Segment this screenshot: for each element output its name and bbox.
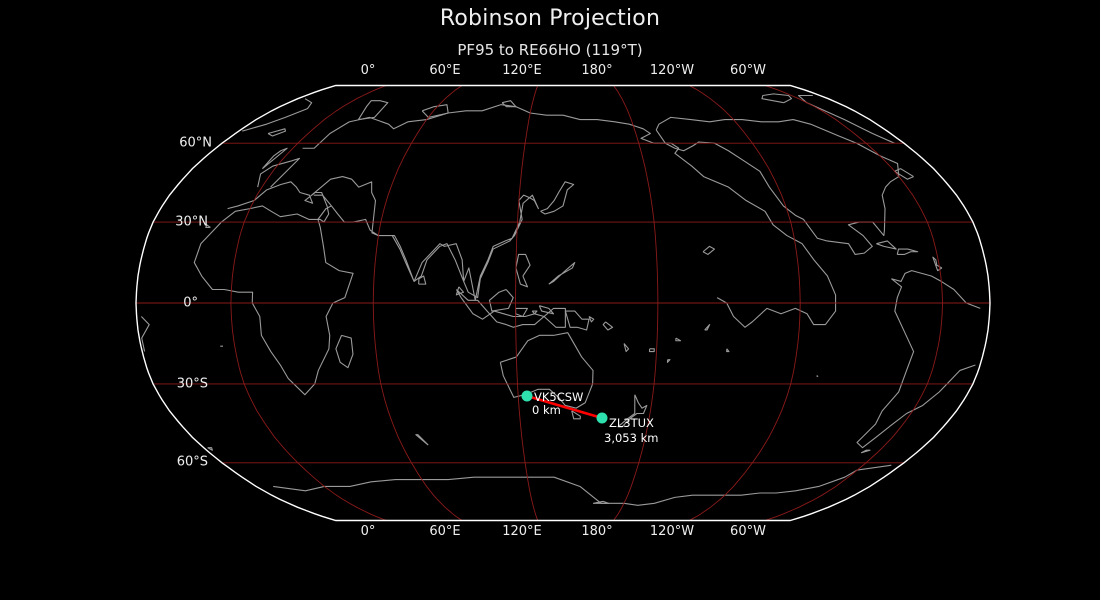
longitude-label-top: 60°W [730,63,766,78]
station-callsign-label: VK5CSW [534,390,583,404]
coastline-segment [589,316,594,321]
coastline-segment [336,335,353,367]
coastline-segment [897,249,917,254]
coastline-segment [861,450,870,453]
station-callsign-label: ZL3TUX [609,416,654,430]
coastline-segment [208,448,213,451]
coastline-segment [141,316,149,351]
coastline-segment [705,325,710,330]
map-coastlines [141,94,980,505]
coastline-segment [876,241,896,249]
longitude-label-bottom: 120°E [502,524,542,539]
coastline-segment [727,349,729,352]
longitude-label-top: 120°E [502,63,542,78]
coastline-segment [242,99,311,131]
coastline-segment [667,360,670,363]
coastline-segment [358,101,387,120]
latitude-label: 30°S [177,377,208,392]
coastline-segment [541,182,574,214]
station-distance-label: 0 km [532,403,561,417]
latitude-label: 60°S [177,455,208,470]
latitude-label: 0° [183,296,198,311]
coastline-segment [516,308,528,316]
coastline-segment [489,290,513,312]
coastline-segment [258,158,300,187]
robinson-map-canvas [0,0,1100,600]
coastline-segment [603,322,612,330]
longitude-label-bottom: 120°W [650,524,694,539]
map-svg [0,0,1100,600]
coastline-segment [624,343,628,351]
coastline-segment [933,257,942,270]
longitude-label-bottom: 0° [361,524,376,539]
coastline-segment [593,501,608,503]
coastline-segment [857,279,975,448]
longitude-label-top: 180° [581,63,612,78]
station-marker-zl3tux[interactable] [597,413,608,424]
coastline-segment [516,254,530,286]
coastline-segment [532,311,537,314]
coastline-segment [416,435,428,445]
coastline-segment [649,349,654,352]
coastline-segment [194,182,353,395]
map-graticule [136,86,990,521]
coastline-segment [799,95,895,143]
longitude-label-top: 120°W [650,63,694,78]
longitude-label-top: 0° [361,63,376,78]
latitude-label: 30°N [175,215,208,230]
longitude-label-top: 60°E [429,63,460,78]
coastline-segment [549,263,575,285]
coastline-segment [817,376,818,377]
coastline-segment [422,105,448,118]
coastline-segment [676,338,681,341]
longitude-label-bottom: 60°E [429,524,460,539]
coastline-segment [268,129,285,136]
coastline-segment [273,470,857,505]
coastline-segment [762,94,791,103]
coastline-segment [565,311,589,330]
map-figure: Robinson Projection PF95 to RE66HO (119°… [0,0,1100,600]
longitude-label-bottom: 60°W [730,524,766,539]
latitude-label: 60°N [179,136,212,151]
longitude-label-bottom: 180° [581,524,612,539]
coastline-segment [703,246,714,254]
station-distance-label: 3,053 km [604,431,658,445]
coastline-segment [456,287,463,295]
station-marker-vk5csw[interactable] [522,391,533,402]
